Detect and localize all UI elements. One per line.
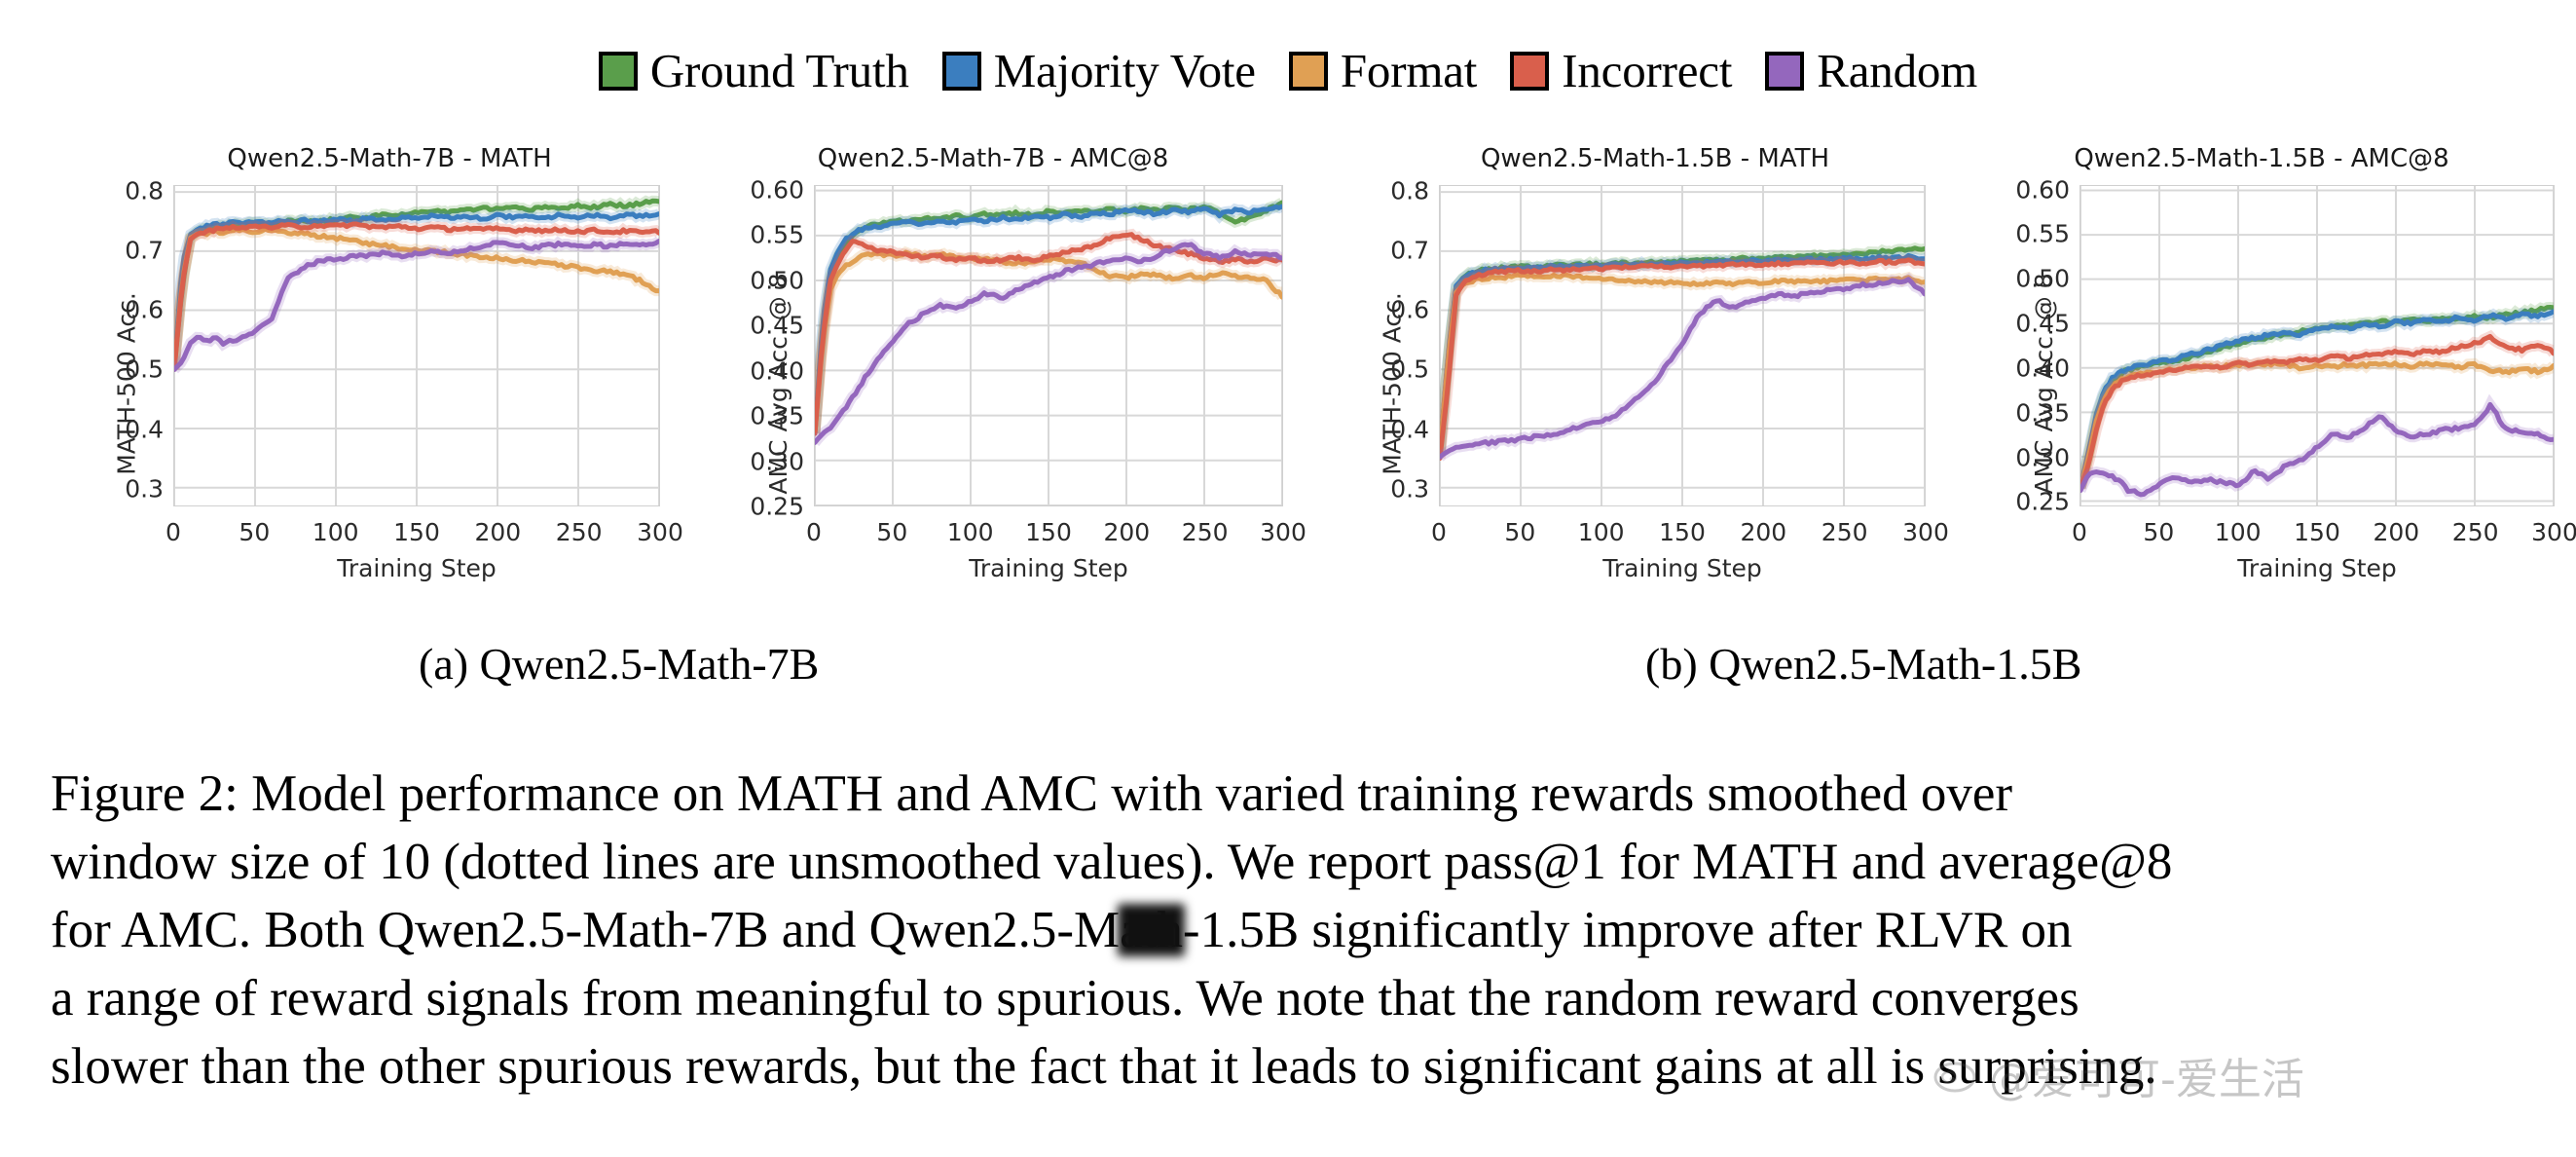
x-tick-label: 250 [2452, 518, 2499, 546]
legend-swatch-icon [599, 52, 638, 91]
x-tick-label: 300 [2531, 518, 2576, 546]
x-tick-label: 200 [1103, 518, 1150, 546]
legend-swatch-icon [1765, 52, 1804, 91]
axis-area: 0.30.40.50.60.70.8050100150200250300 [173, 185, 660, 506]
caption-line: window size of 10 (dotted lines are unsm… [51, 828, 2543, 896]
panel-title: Qwen2.5-Math-1.5B - AMC@8 [1947, 144, 2576, 173]
legend-label: Majority Vote [994, 47, 1256, 94]
caption-text: a range of reward signals from meaningfu… [51, 970, 2079, 1026]
caption-text: Figure 2: Model performance on MATH and … [51, 765, 2012, 822]
y-tick-label: 0.25 [2015, 488, 2070, 516]
y-tick-label: 0.35 [750, 402, 804, 430]
chart-legend: Ground TruthMajority VoteFormatIncorrect… [0, 47, 2576, 94]
x-tick-label: 50 [239, 518, 270, 546]
x-tick-label: 0 [2072, 518, 2087, 546]
axis-area: 0.30.40.50.60.70.8050100150200250300 [1439, 185, 1926, 506]
panel-title: Qwen2.5-Math-1.5B - MATH [1324, 144, 1947, 173]
panel-qwen7b-amc: Qwen2.5-Math-7B - AMC@8 AMC Avg Acc. @ 8… [681, 136, 1305, 623]
redacted-text: ath [1120, 896, 1183, 964]
subfigure-caption-b: (b) Qwen2.5-Math-1.5B [1645, 638, 2081, 690]
caption-text: for AMC. Both Qwen2.5-Math-7B and Qwen2.… [51, 902, 1120, 958]
y-tick-label: 0.45 [2015, 310, 2070, 338]
legend-item: Format [1289, 47, 1477, 94]
x-tick-label: 100 [313, 518, 359, 546]
y-tick-label: 0.30 [2015, 443, 2070, 471]
y-tick-label: 0.7 [125, 237, 164, 265]
y-tick-label: 0.35 [2015, 398, 2070, 427]
legend-item: Incorrect [1510, 47, 1732, 94]
y-tick-label: 0.40 [2015, 354, 2070, 382]
x-tick-label: 250 [1182, 518, 1229, 546]
legend-item: Random [1765, 47, 1977, 94]
plot-area [173, 185, 660, 506]
plot-area [814, 185, 1283, 506]
x-tick-label: 50 [876, 518, 907, 546]
y-tick-label: 0.55 [750, 221, 804, 249]
caption-line: slower than the other spurious rewards, … [51, 1032, 2543, 1101]
x-tick-label: 100 [1578, 518, 1625, 546]
caption-text: window size of 10 (dotted lines are unsm… [51, 834, 2172, 890]
y-tick-label: 0.45 [750, 312, 804, 340]
plot-area [2079, 185, 2555, 506]
panel-qwen7b-math: Qwen2.5-Math-7B - MATH MATH-500 Acc. 0.3… [58, 136, 681, 623]
figure-caption: Figure 2: Model performance on MATH and … [51, 760, 2543, 1101]
caption-text: slower than the other spurious rewards, … [51, 1038, 2157, 1095]
x-tick-label: 300 [637, 518, 683, 546]
chart-svg [2080, 186, 2554, 505]
subfigure-caption-a: (a) Qwen2.5-Math-7B [419, 638, 819, 690]
x-axis-label: Training Step [814, 554, 1283, 582]
y-tick-label: 0.60 [2015, 175, 2070, 204]
x-tick-label: 50 [2143, 518, 2174, 546]
x-axis-label: Training Step [173, 554, 660, 582]
chart-svg [174, 186, 659, 505]
y-tick-label: 0.4 [125, 415, 164, 443]
plot-area [1439, 185, 1926, 506]
x-tick-label: 300 [1902, 518, 1949, 546]
y-tick-label: 0.8 [125, 177, 164, 205]
x-tick-label: 100 [947, 518, 994, 546]
y-tick-label: 0.40 [750, 356, 804, 385]
figure-panels: Qwen2.5-Math-7B - MATH MATH-500 Acc. 0.3… [0, 136, 2576, 623]
legend-label: Format [1341, 47, 1477, 94]
legend-item: Ground Truth [599, 47, 909, 94]
x-tick-label: 250 [556, 518, 603, 546]
y-tick-label: 0.30 [750, 447, 804, 475]
y-tick-label: 0.25 [750, 493, 804, 521]
x-tick-label: 150 [1659, 518, 1706, 546]
x-tick-label: 250 [1822, 518, 1868, 546]
axis-area: 0.250.300.350.400.450.500.550.6005010015… [2079, 185, 2555, 506]
panel-qwen15b-amc: Qwen2.5-Math-1.5B - AMC@8 AMC Avg Acc. @… [1947, 136, 2576, 623]
y-tick-label: 0.7 [1390, 237, 1429, 265]
caption-line: for AMC. Both Qwen2.5-Math-7B and Qwen2.… [51, 896, 2543, 964]
y-tick-label: 0.3 [1390, 474, 1429, 503]
legend-label: Ground Truth [650, 47, 909, 94]
panel-title: Qwen2.5-Math-7B - MATH [58, 144, 681, 173]
caption-line: Figure 2: Model performance on MATH and … [51, 760, 2543, 828]
axis-area: 0.250.300.350.400.450.500.550.6005010015… [814, 185, 1283, 506]
panel-title: Qwen2.5-Math-7B - AMC@8 [681, 144, 1305, 173]
y-tick-label: 0.50 [750, 266, 804, 294]
x-tick-label: 150 [2294, 518, 2340, 546]
legend-swatch-icon [1510, 52, 1549, 91]
y-tick-label: 0.8 [1390, 177, 1429, 205]
x-tick-label: 200 [1740, 518, 1786, 546]
x-tick-label: 0 [1431, 518, 1447, 546]
y-tick-label: 0.6 [125, 296, 164, 324]
legend-item: Majority Vote [942, 47, 1256, 94]
y-tick-label: 0.55 [2015, 220, 2070, 248]
x-tick-label: 0 [806, 518, 822, 546]
y-tick-label: 0.5 [125, 355, 164, 384]
x-tick-label: 0 [166, 518, 181, 546]
x-tick-label: 50 [1504, 518, 1535, 546]
x-tick-label: 200 [474, 518, 521, 546]
y-tick-label: 0.5 [1390, 355, 1429, 384]
y-tick-label: 0.4 [1390, 415, 1429, 443]
y-tick-label: 0.60 [750, 175, 804, 204]
chart-svg [1440, 186, 1925, 505]
legend-swatch-icon [1289, 52, 1328, 91]
x-tick-label: 300 [1260, 518, 1306, 546]
y-tick-label: 0.6 [1390, 296, 1429, 324]
legend-label: Incorrect [1562, 47, 1732, 94]
x-tick-label: 150 [1025, 518, 1072, 546]
x-axis-label: Training Step [1439, 554, 1926, 582]
caption-text: -1.5B significantly improve after RLVR o… [1183, 902, 2073, 958]
x-tick-label: 100 [2215, 518, 2262, 546]
legend-swatch-icon [942, 52, 981, 91]
panel-qwen15b-math: Qwen2.5-Math-1.5B - MATH MATH-500 Acc. 0… [1324, 136, 1947, 623]
x-tick-label: 200 [2373, 518, 2419, 546]
legend-label: Random [1817, 47, 1977, 94]
y-tick-label: 0.3 [125, 474, 164, 503]
x-axis-label: Training Step [2079, 554, 2555, 582]
y-tick-label: 0.50 [2015, 265, 2070, 293]
caption-line: a range of reward signals from meaningfu… [51, 964, 2543, 1032]
chart-svg [815, 186, 1282, 505]
x-tick-label: 150 [393, 518, 440, 546]
